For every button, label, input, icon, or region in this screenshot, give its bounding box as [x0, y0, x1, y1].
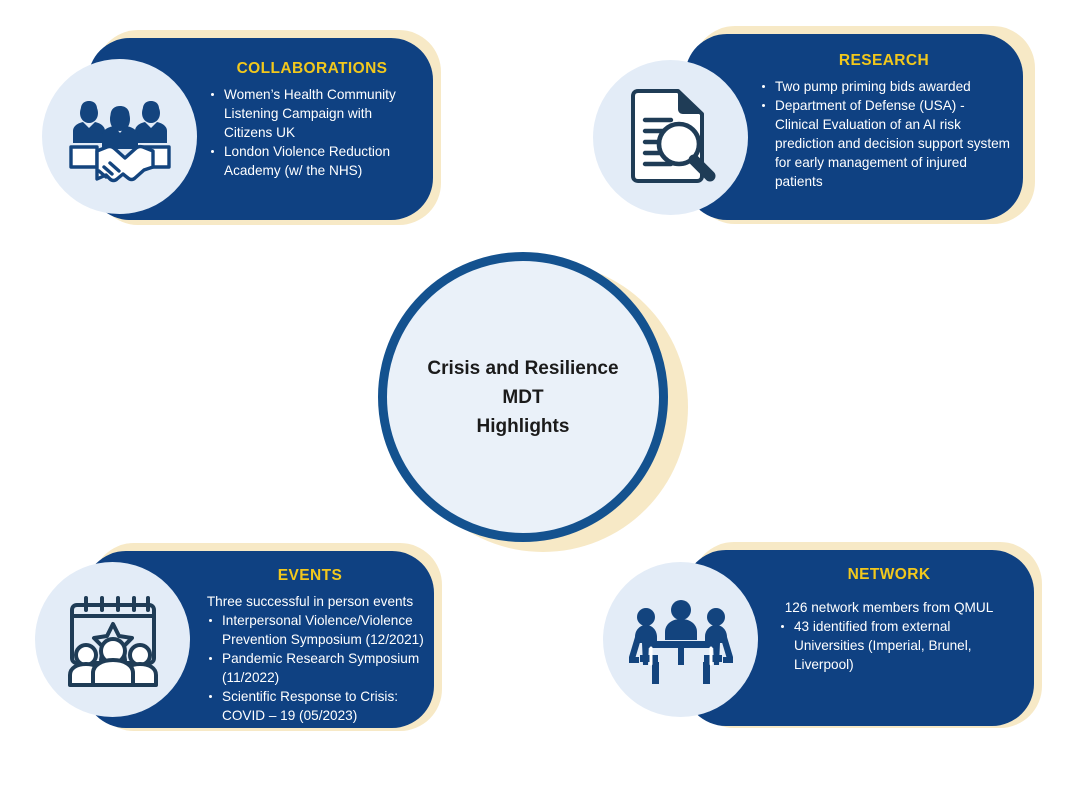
network-bullet-list: 43 identified from external Universities… — [762, 617, 1016, 674]
collaborations-heading: COLLABORATIONS — [205, 60, 419, 78]
meeting-table-icon — [627, 593, 735, 687]
events-icon-bubble — [35, 562, 190, 717]
network-intro: 126 network members from QMUL — [762, 598, 1016, 617]
handshake-team-icon — [66, 91, 174, 183]
center-title: Crisis and Resilience MDT Highlights — [414, 354, 632, 441]
research-bullet-list: Two pump priming bids awarded Department… — [756, 77, 1012, 191]
center-title-line-1: Crisis and Resilience MDT — [427, 358, 618, 408]
research-text: RESEARCH Two pump priming bids awarded D… — [756, 52, 1012, 191]
events-text: EVENTS Three successful in person events… — [190, 567, 430, 725]
list-item: 43 identified from external Universities… — [792, 617, 1016, 674]
events-heading: EVENTS — [190, 567, 430, 585]
list-item: Women’s Health Community Listening Campa… — [222, 85, 419, 142]
events-bullet-list: Interpersonal Violence/Violence Preventi… — [190, 611, 430, 725]
network-heading: NETWORK — [762, 566, 1016, 584]
collaborations-bullet-list: Women’s Health Community Listening Campa… — [205, 85, 419, 180]
events-intro: Three successful in person events — [190, 592, 430, 611]
list-item: Department of Defense (USA) - Clinical E… — [773, 96, 1012, 191]
network-icon-bubble — [603, 562, 758, 717]
list-item: Pandemic Research Symposium (11/2022) — [220, 649, 430, 687]
list-item: Scientific Response to Crisis: COVID – 1… — [220, 687, 430, 725]
diagram-canvas: COLLABORATIONS Women’s Health Community … — [0, 0, 1067, 800]
list-item: Interpersonal Violence/Violence Preventi… — [220, 611, 430, 649]
research-icon-bubble — [593, 60, 748, 215]
document-search-icon — [621, 86, 721, 190]
network-text: NETWORK 126 network members from QMUL 43… — [762, 566, 1016, 674]
center-title-line-2: Highlights — [477, 416, 570, 437]
center-circle[interactable]: Crisis and Resilience MDT Highlights — [378, 252, 668, 542]
list-item: London Violence Reduction Academy (w/ th… — [222, 142, 419, 180]
list-item: Two pump priming bids awarded — [773, 77, 1012, 96]
research-heading: RESEARCH — [756, 52, 1012, 70]
calendar-star-audience-icon — [59, 593, 167, 687]
collaborations-text: COLLABORATIONS Women’s Health Community … — [205, 60, 419, 180]
collaborations-icon-bubble — [42, 59, 197, 214]
